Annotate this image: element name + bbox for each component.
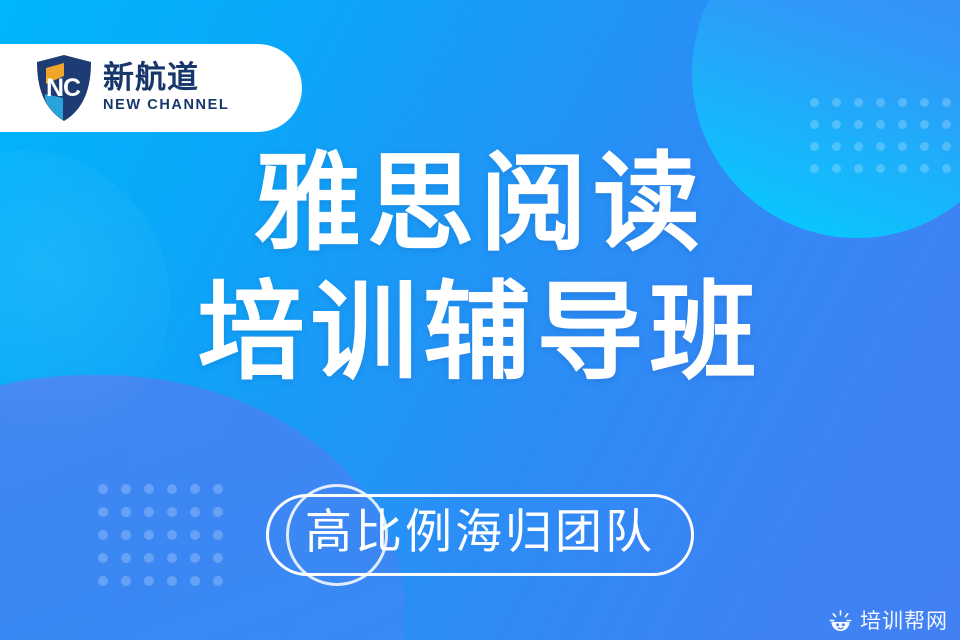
sun-face-icon [828,609,853,634]
decorative-dot [810,98,819,107]
decorative-dot [854,120,863,129]
decorative-dot [213,576,223,586]
decorative-dot [167,576,177,586]
decorative-dot [942,120,951,129]
decorative-dot [832,98,841,107]
brand-name-cn: 新航道 [103,62,229,95]
subtitle-block: 高比例海归团队 [0,494,960,576]
decorative-dot [167,484,177,494]
decorative-dot [920,98,929,107]
decorative-dot [190,576,200,586]
decorative-dot [144,576,154,586]
decorative-dot [832,120,841,129]
decorative-dot [810,120,819,129]
decorative-dot [144,484,154,494]
decorative-dot [190,484,200,494]
brand-name-en: NEW CHANNEL [103,97,229,114]
headline-line-1: 雅思阅读 [0,148,960,260]
decorative-dot [98,484,108,494]
decorative-dot [876,120,885,129]
decorative-dot [98,576,108,586]
brand-wordmark: 新航道 NEW CHANNEL [103,62,229,114]
headline-block: 雅思阅读 培训辅导班 [0,148,960,389]
brand-logo-pill: NC 新航道 NEW CHANNEL [0,44,302,132]
subtitle-text: 高比例海归团队 [305,505,655,561]
headline-line-2: 培训辅导班 [0,277,960,389]
decorative-dot [942,98,951,107]
decorative-dot [898,98,907,107]
brand-logo: NC 新航道 NEW CHANNEL [34,54,229,122]
decorative-dot [121,484,131,494]
svg-text:NC: NC [46,74,81,102]
decorative-dot [920,120,929,129]
site-watermark: 培训帮网 [828,609,948,634]
decorative-dot [898,120,907,129]
subtitle-pill: 高比例海归团队 [266,494,694,576]
decorative-dot [854,98,863,107]
nc-shield-icon: NC [34,54,94,122]
decorative-dot [876,98,885,107]
decorative-dot [121,576,131,586]
poster-canvas: NC 新航道 NEW CHANNEL 雅思阅读 培训辅导班 高比例海归团队 [0,0,960,640]
watermark-label: 培训帮网 [860,609,948,634]
decorative-dot [213,484,223,494]
